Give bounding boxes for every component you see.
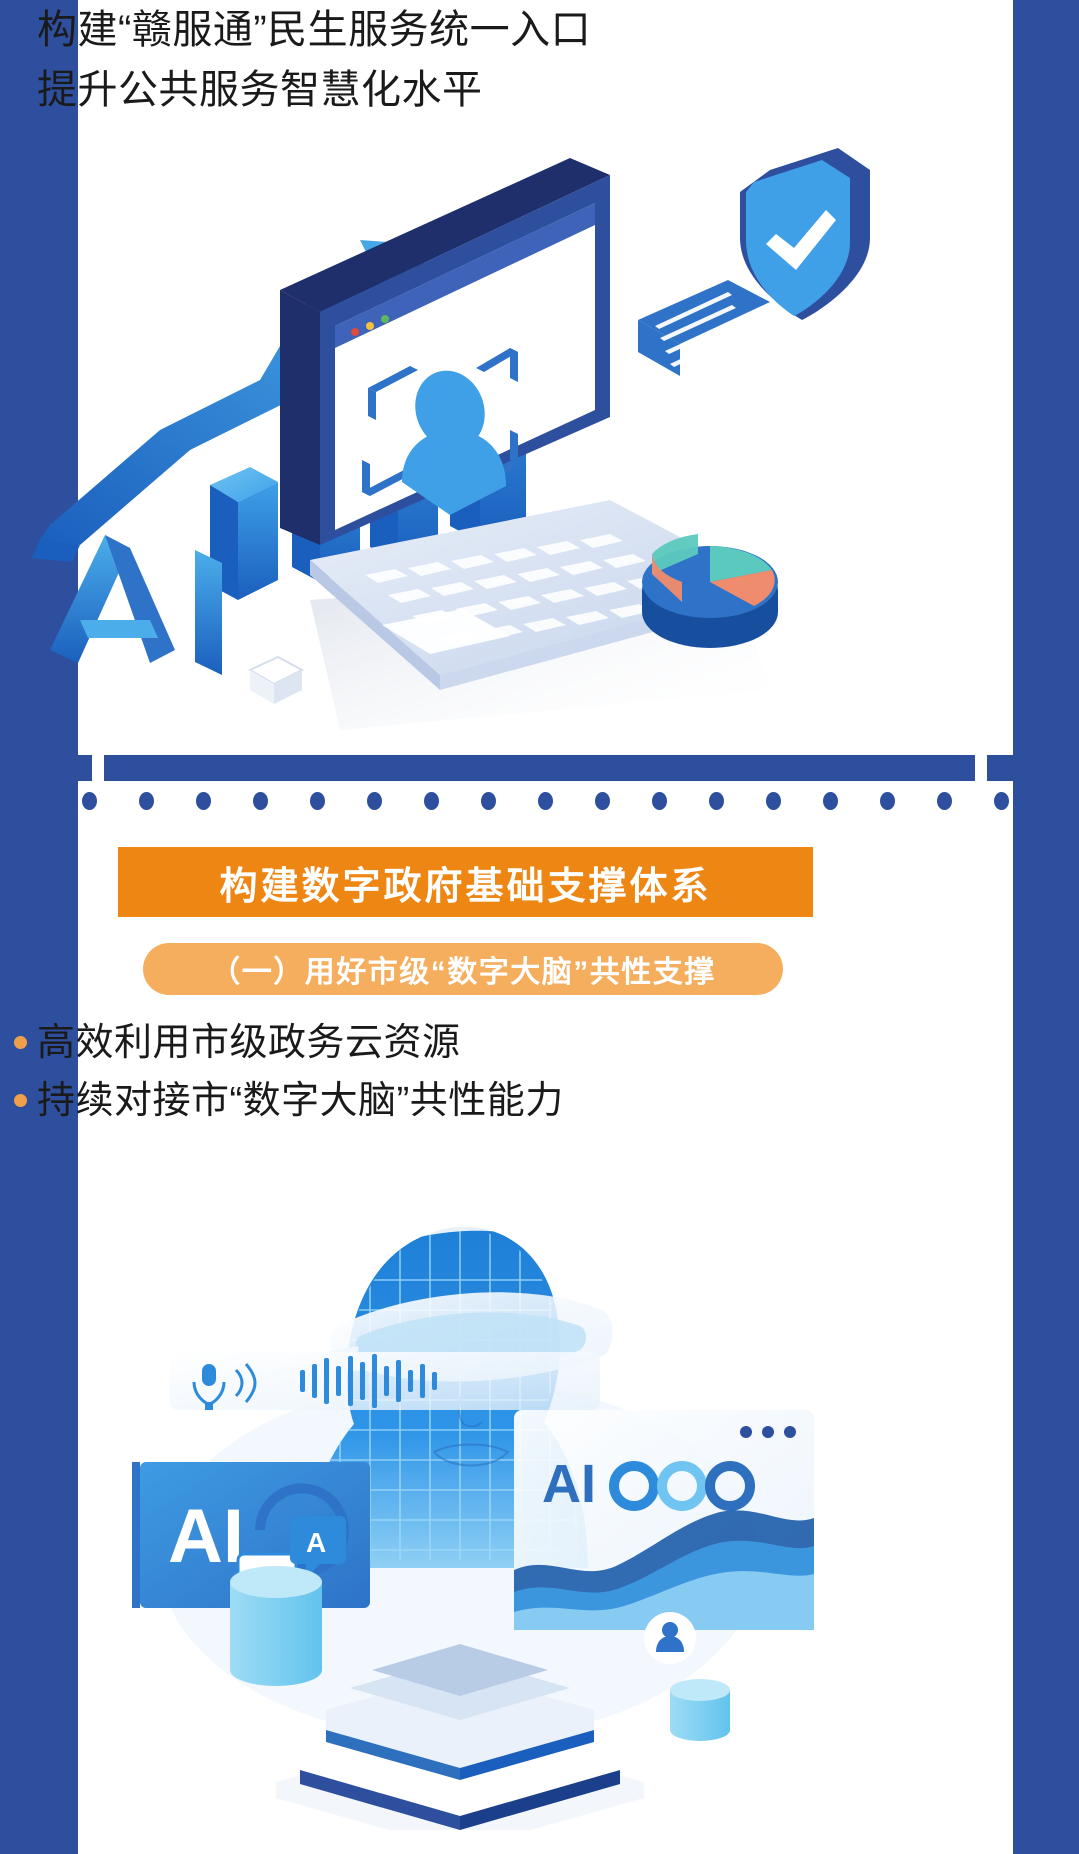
wireframe-head-ai-illustration: AI 文 A	[110, 1130, 830, 1830]
svg-text:A: A	[306, 1527, 326, 1558]
list-item: 提升公共服务智慧化水平	[14, 64, 914, 116]
ai-card-label: AI	[168, 1494, 244, 1579]
divider-dot	[367, 792, 382, 810]
divider-dot	[937, 792, 952, 810]
divider-notch-right	[975, 755, 987, 781]
card-menu-dots	[740, 1426, 796, 1438]
divider-dot	[82, 792, 97, 810]
analytics-card-label: AI	[542, 1454, 596, 1514]
bullet-dot-icon	[14, 23, 27, 36]
divider-dot	[139, 792, 154, 810]
pie-chart-3d-icon	[642, 534, 778, 648]
divider-dot	[196, 792, 211, 810]
divider-dot	[994, 792, 1009, 810]
shield-check-icon	[740, 148, 870, 320]
divider-notch-left	[92, 755, 104, 781]
divider-dot	[823, 792, 838, 810]
divider-dot	[253, 792, 268, 810]
divider-dot	[709, 792, 724, 810]
ai-text-3d	[50, 535, 222, 675]
bullet-label: 构建“赣服通”民生服务统一入口	[37, 4, 591, 56]
section-divider-bar	[0, 755, 1079, 781]
laptop-screen	[280, 158, 610, 545]
right-blue-rail	[1013, 0, 1079, 1854]
divider-dot	[652, 792, 667, 810]
window-dot-yellow	[366, 322, 374, 330]
floating-cylinder-right	[670, 1679, 730, 1741]
bullet-label: 持续对接市“数字大脑”共性能力	[37, 1076, 564, 1126]
divider-dot	[424, 792, 439, 810]
bullet-label: 提升公共服务智慧化水平	[37, 64, 483, 116]
isometric-laptop-ai-illustration	[10, 130, 915, 730]
list-item: 构建“赣服通”民生服务统一入口	[14, 4, 914, 56]
window-dot-green	[381, 315, 389, 323]
ai-analytics-card: AI	[514, 1410, 814, 1664]
list-item: 持续对接市“数字大脑”共性能力	[14, 1076, 914, 1126]
divider-dot	[481, 792, 496, 810]
divider-dot	[595, 792, 610, 810]
divider-dot	[538, 792, 553, 810]
divider-dot	[310, 792, 325, 810]
section-header-label: 构建数字政府基础支撑体系	[219, 855, 711, 910]
bottom-bullet-list: 高效利用市级政务云资源 持续对接市“数字大脑”共性能力	[14, 1018, 914, 1134]
infographic-page: 构建“赣服通”民生服务统一入口 提升公共服务智慧化水平	[0, 0, 1079, 1854]
section-header-banner: 构建数字政府基础支撑体系	[118, 847, 813, 917]
bullet-dot-icon	[14, 1094, 27, 1107]
user-avatar-badge	[644, 1612, 696, 1664]
top-bullet-list: 构建“赣服通”民生服务统一入口 提升公共服务智慧化水平	[14, 4, 914, 124]
subsection-pill: （一）用好市级“数字大脑”共性支撑	[143, 943, 783, 995]
floating-cylinder-left	[230, 1566, 322, 1686]
document-card-icon	[638, 280, 770, 376]
bullet-dot-icon	[14, 1036, 27, 1049]
window-dot-red	[351, 328, 359, 336]
bullet-label: 高效利用市级政务云资源	[37, 1018, 461, 1068]
bullet-dot-icon	[14, 83, 27, 96]
divider-dot-row	[78, 790, 1013, 812]
subsection-label: （一）用好市级“数字大脑”共性支撑	[210, 947, 716, 991]
divider-dot	[880, 792, 895, 810]
voice-waveform-bar	[170, 1352, 600, 1410]
list-item: 高效利用市级政务云资源	[14, 1018, 914, 1068]
divider-dot	[766, 792, 781, 810]
